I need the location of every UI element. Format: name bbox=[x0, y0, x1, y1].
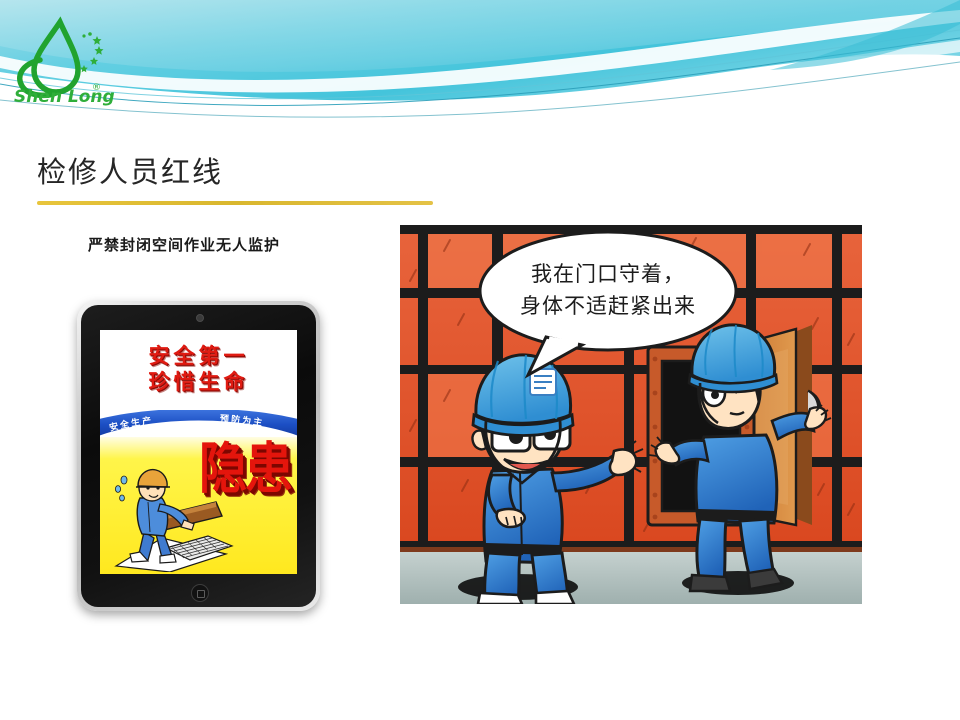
registered-mark: ® bbox=[92, 83, 101, 93]
slide-canvas: Shen Long ® 检修人员红线 严禁封闭空间作业无人监护 安全第一 珍惜生… bbox=[0, 0, 960, 720]
left-image-caption: 严禁封闭空间作业无人监护 bbox=[88, 234, 280, 255]
brand-logo: Shen Long ® bbox=[6, 14, 114, 110]
page-title: 检修人员红线 bbox=[37, 152, 223, 192]
poster-slogan-line1: 安全第一 bbox=[100, 343, 297, 369]
header-swoosh-band bbox=[0, 0, 960, 118]
title-underline-rule bbox=[37, 201, 433, 205]
poster-worker-illustration bbox=[104, 462, 234, 572]
confined-space-cartoon-image: 我在门口守着， 身体不适赶紧出来 bbox=[400, 225, 862, 604]
poster-slogan: 安全第一 珍惜生命 bbox=[100, 343, 297, 395]
safety-poster: 安全第一 珍惜生命 bbox=[100, 330, 297, 574]
tablet-screen: 安全第一 珍惜生命 bbox=[100, 330, 297, 574]
tablet-camera-icon bbox=[196, 314, 204, 322]
tablet-home-button[interactable] bbox=[191, 584, 209, 602]
speech-line-2: 身体不适赶紧出来 bbox=[520, 294, 696, 318]
speech-line-1: 我在门口守着， bbox=[531, 262, 685, 286]
poster-blue-banner: 安全生产 预防为主 bbox=[100, 410, 297, 436]
poster-lower-panel: 隐患 bbox=[100, 437, 297, 574]
tablet-device-image: 安全第一 珍惜生命 bbox=[77, 301, 320, 611]
poster-slogan-line2: 珍惜生命 bbox=[100, 369, 297, 395]
